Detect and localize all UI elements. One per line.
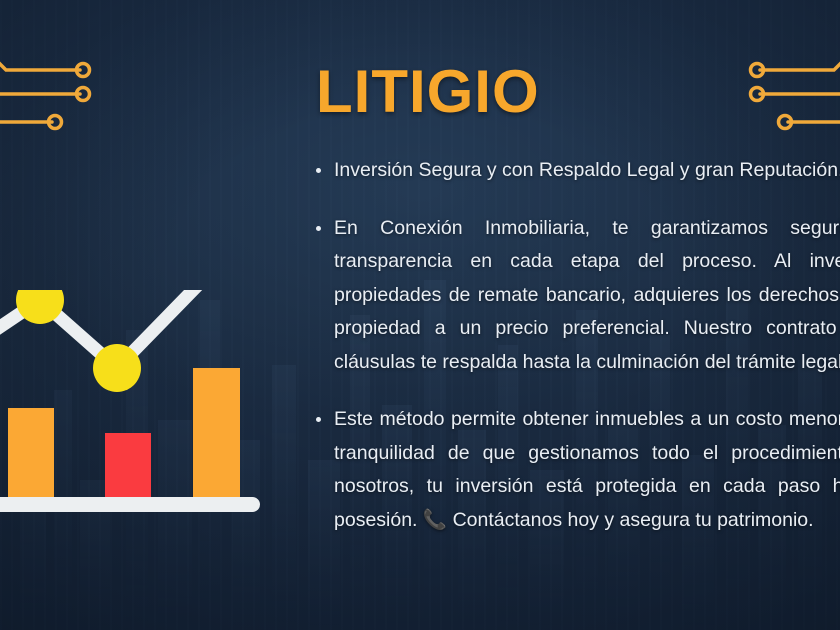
page-title: LITIGIO <box>316 62 840 122</box>
list-item: Inversión Segura y con Respaldo Legal y … <box>308 154 840 188</box>
list-item-text: Este método permite obtener inmuebles a … <box>334 408 840 531</box>
chart-bar-3 <box>193 368 240 500</box>
bullet-dot-icon <box>316 168 321 173</box>
slide-content: LITIGIO Inversión Segura y con Respaldo … <box>300 0 840 630</box>
chart-marker <box>93 344 141 392</box>
list-item-text: En Conexión Inmobiliaria, te garantizamo… <box>334 217 840 373</box>
bullet-dot-icon <box>316 417 321 422</box>
slide-canvas: LITIGIO Inversión Segura y con Respaldo … <box>0 0 840 630</box>
circuit-node-icon <box>49 116 62 129</box>
bar-chart-graphic <box>0 290 300 630</box>
circuit-node-icon <box>77 64 90 77</box>
chart-bar-1 <box>8 408 54 500</box>
chart-baseline <box>0 497 260 512</box>
circuit-node-icon <box>77 88 90 101</box>
list-item: En Conexión Inmobiliaria, te garantizamo… <box>308 212 840 380</box>
bullet-dot-icon <box>316 226 321 231</box>
list-item-text: Inversión Segura y con Respaldo Legal y … <box>334 159 840 181</box>
bullet-list: Inversión Segura y con Respaldo Legal y … <box>308 154 840 537</box>
chart-bar-2 <box>105 433 151 500</box>
list-item: Este método permite obtener inmuebles a … <box>308 403 840 537</box>
circuit-decoration-left <box>0 0 140 150</box>
